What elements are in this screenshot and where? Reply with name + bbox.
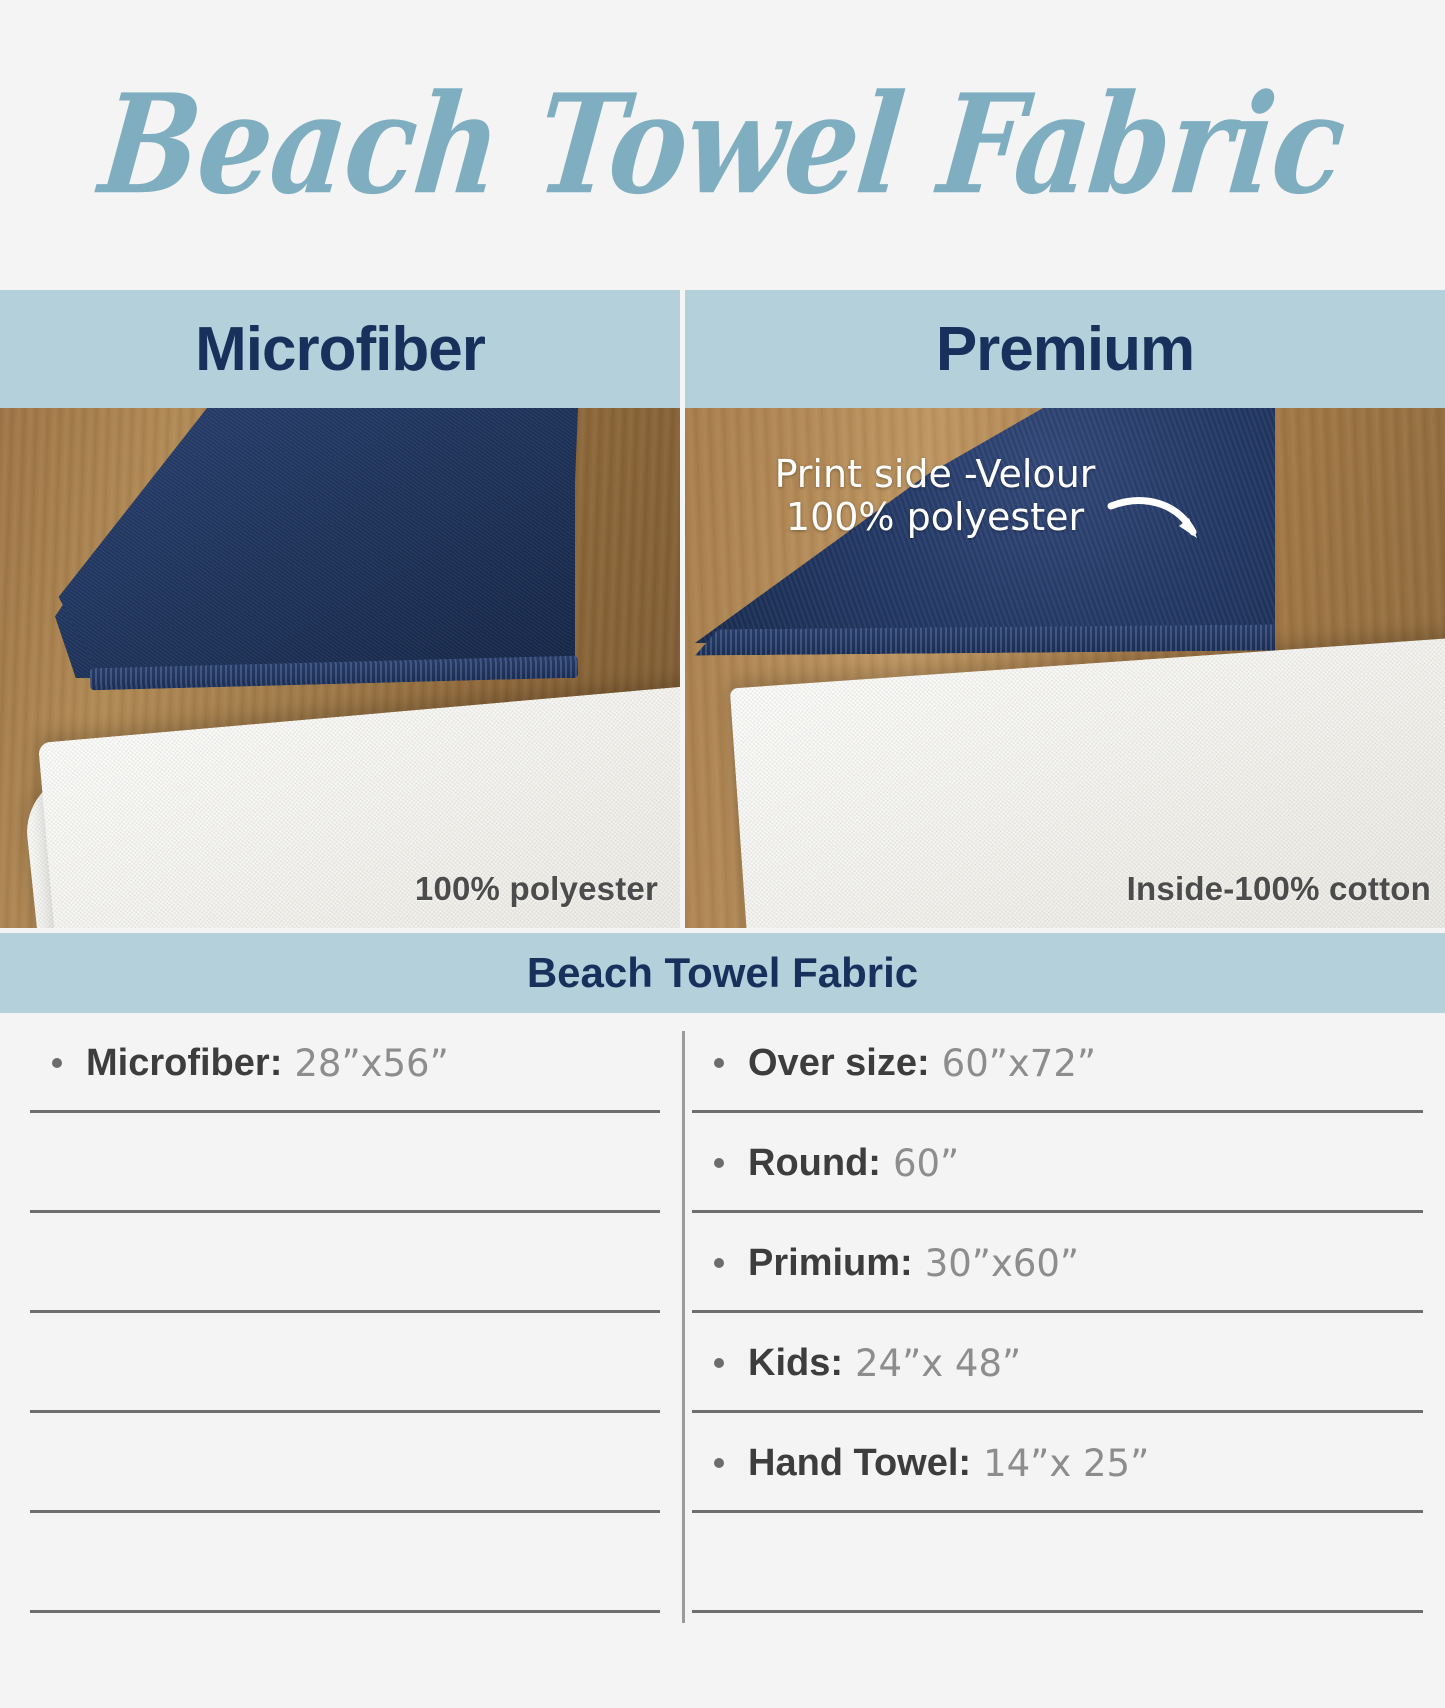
spec-value: 24”x 48” (855, 1342, 1021, 1385)
spec-name: Round: (748, 1142, 881, 1185)
table-row (0, 1113, 682, 1213)
spec-column-left: Microfiber: 28”x56” (0, 1013, 682, 1623)
table-row: Primium: 30”x60” (682, 1213, 1445, 1313)
bullet-icon (714, 1058, 724, 1068)
spec-value: 60”x72” (942, 1042, 1096, 1085)
section-header-label: Beach Towel Fabric (527, 949, 918, 997)
navy-flap-lower (48, 408, 578, 678)
photo-premium: Print side -Velour 100% polyester Inside… (685, 408, 1445, 928)
table-row: Over size: 60”x72” (682, 1013, 1445, 1113)
row-rule (30, 1610, 660, 1613)
spec-name: Hand Towel: (748, 1442, 971, 1485)
spec-name: Over size: (748, 1042, 930, 1085)
annotation-print-side: Print side -Velour 100% polyester (725, 453, 1145, 538)
annotation-line-2: 100% polyester (725, 496, 1145, 539)
spec-column-right: Over size: 60”x72” Round: 60” Primium: 3… (682, 1013, 1445, 1623)
row-rule (692, 1610, 1423, 1613)
table-row (0, 1213, 682, 1313)
table-row: Round: 60” (682, 1113, 1445, 1213)
photo-row: 100% polyester Print side -Velour 100% p… (0, 408, 1445, 928)
spec-value: 28”x56” (294, 1042, 448, 1085)
spec-name: Primium: (748, 1242, 913, 1285)
bullet-icon (714, 1258, 724, 1268)
table-row: Kids: 24”x 48” (682, 1313, 1445, 1413)
spec-value: 30”x60” (925, 1242, 1079, 1285)
table-row (0, 1413, 682, 1513)
spec-name: Kids: (748, 1342, 843, 1385)
bullet-icon (52, 1058, 62, 1068)
column-header-right-label: Premium (936, 314, 1194, 385)
curved-arrow-down-right-icon (1105, 470, 1215, 550)
bullet-icon (714, 1358, 724, 1368)
title-area: Beach Towel Fabric (0, 0, 1445, 290)
spec-value: 14”x 25” (983, 1442, 1149, 1485)
table-row: Hand Towel: 14”x 25” (682, 1413, 1445, 1513)
column-header-left-label: Microfiber (195, 314, 485, 385)
velour-flap-hem (695, 624, 1275, 655)
spec-table: Microfiber: 28”x56” (0, 1013, 1445, 1623)
annotation-line-1: Print side -Velour (725, 453, 1145, 496)
navy-flap-lower-face (48, 408, 578, 678)
table-row (0, 1313, 682, 1413)
table-row (682, 1513, 1445, 1613)
column-header-left: Microfiber (0, 290, 680, 408)
caption-premium: Inside-100% cotton (1127, 870, 1431, 908)
page-title: Beach Towel Fabric (94, 65, 1352, 225)
photo-microfiber: 100% polyester (0, 408, 680, 928)
bullet-icon (714, 1158, 724, 1168)
spec-name: Microfiber: (86, 1042, 282, 1085)
spec-value: 60” (893, 1142, 959, 1185)
section-header: Beach Towel Fabric (0, 933, 1445, 1013)
bullet-icon (714, 1458, 724, 1468)
column-header-right: Premium (685, 290, 1445, 408)
column-header-row: Microfiber Premium (0, 290, 1445, 408)
table-row: Microfiber: 28”x56” (0, 1013, 682, 1113)
caption-microfiber: 100% polyester (415, 870, 658, 908)
infographic-page: Beach Towel Fabric Microfiber Premium 10 (0, 0, 1445, 1708)
table-row (0, 1513, 682, 1613)
